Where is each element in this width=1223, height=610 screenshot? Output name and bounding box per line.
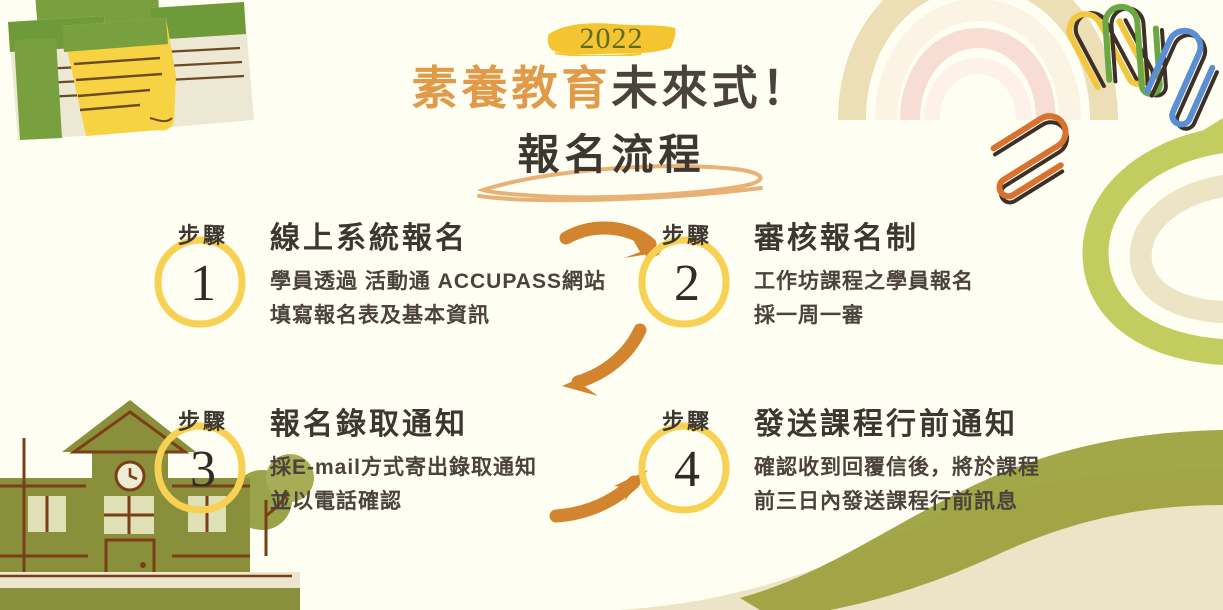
step-body-1: 線上系統報名 學員透過 活動通 ACCUPASS網站 填寫報名表及基本資訊 xyxy=(258,212,606,330)
step-body-3: 報名錄取通知 採E-mail方式寄出錄取通知 並以電話確認 xyxy=(258,398,537,516)
step-number-2: 2 xyxy=(632,254,742,313)
header: 2022 素養教育未來式！ 報名流程 xyxy=(0,18,1223,192)
step-label-3: 步驟 xyxy=(148,404,258,436)
step-item-3: 步驟 3 報名錄取通知 採E-mail方式寄出錄取通知 並以電話確認 xyxy=(148,398,628,518)
step-body-4: 發送課程行前通知 確認收到回覆信後，將於課程 前三日內發送課程行前訊息 xyxy=(742,398,1040,516)
year-badge: 2022 xyxy=(546,18,678,60)
step-heading-4: 發送課程行前通知 xyxy=(754,406,1040,444)
page-title-part1: 素養教育 xyxy=(412,62,612,114)
step-number-3: 3 xyxy=(148,440,258,499)
step-detail-line: 並以電話確認 xyxy=(270,488,537,516)
step-badge-2: 步驟 2 xyxy=(632,212,742,332)
step-heading-2: 審核報名制 xyxy=(754,220,974,258)
step-badge-4: 步驟 4 xyxy=(632,398,742,518)
page-title: 素養教育未來式！ xyxy=(0,62,1223,115)
step-badge-3: 步驟 3 xyxy=(148,398,258,518)
step-label-4: 步驟 xyxy=(632,404,742,436)
step-detail-line: 確認收到回覆信後，將於課程 xyxy=(754,454,1040,482)
subtitle-label: 報名流程 xyxy=(517,121,705,182)
step-detail-line: 學員透過 活動通 ACCUPASS網站 xyxy=(270,268,606,296)
step-detail-line: 前三日內發送課程行前訊息 xyxy=(754,488,1040,516)
step-item-2: 步驟 2 審核報名制 工作坊課程之學員報名 採一周一審 xyxy=(632,212,1082,332)
step-detail-line: 填寫報名表及基本資訊 xyxy=(270,302,606,330)
step-item-1: 步驟 1 線上系統報名 學員透過 活動通 ACCUPASS網站 填寫報名表及基本… xyxy=(148,212,628,332)
steps-container: 步驟 1 線上系統報名 學員透過 活動通 ACCUPASS網站 填寫報名表及基本… xyxy=(0,208,1223,568)
step-item-4: 步驟 4 發送課程行前通知 確認收到回覆信後，將於課程 前三日內發送課程行前訊息 xyxy=(632,398,1102,518)
step-label-1: 步驟 xyxy=(148,218,258,250)
step-heading-3: 報名錄取通知 xyxy=(270,406,537,444)
step-detail-line: 採一周一審 xyxy=(754,302,974,330)
step-number-1: 1 xyxy=(148,254,258,313)
step-label-2: 步驟 xyxy=(632,218,742,250)
step-detail-line: 工作坊課程之學員報名 xyxy=(754,268,974,296)
step-badge-1: 步驟 1 xyxy=(148,212,258,332)
page-title-part2: 未來式！ xyxy=(612,62,812,114)
subtitle-group: 報名流程 xyxy=(491,121,731,192)
infographic-canvas: 2022 素養教育未來式！ 報名流程 步驟 1 線上系統報名 xyxy=(0,0,1223,610)
step-detail-line: 採E-mail方式寄出錄取通知 xyxy=(270,454,537,482)
step-body-2: 審核報名制 工作坊課程之學員報名 採一周一審 xyxy=(742,212,974,330)
step-number-4: 4 xyxy=(632,440,742,499)
step-heading-1: 線上系統報名 xyxy=(270,220,606,258)
year-label: 2022 xyxy=(580,22,644,55)
